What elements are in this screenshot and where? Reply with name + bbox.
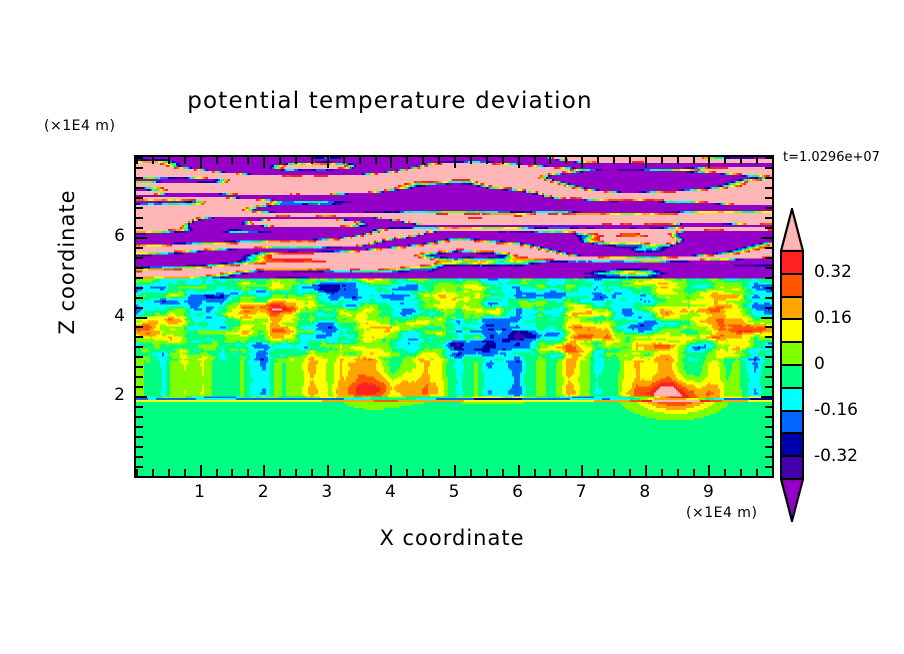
x-tick-label: 9	[695, 482, 721, 502]
axis-tick-mark	[136, 416, 143, 418]
axis-tick-mark	[327, 465, 329, 476]
axis-tick-mark	[597, 157, 599, 164]
axis-tick-mark	[263, 157, 265, 168]
axis-tick-mark	[765, 247, 772, 249]
axis-tick-mark	[693, 469, 695, 476]
colorbar-band	[782, 252, 802, 275]
colorbar-tick-label: 0.16	[814, 308, 852, 328]
axis-tick-mark	[581, 157, 583, 168]
axis-tick-mark	[765, 197, 772, 199]
x-tick-label: 5	[441, 482, 467, 502]
axis-tick-mark	[136, 307, 143, 309]
axis-tick-mark	[765, 217, 772, 219]
axis-tick-mark	[136, 356, 143, 358]
axis-tick-mark	[708, 465, 710, 476]
axis-tick-mark	[375, 157, 377, 164]
colorbar-band	[782, 389, 802, 412]
colorbar-band	[782, 320, 802, 343]
axis-tick-mark	[136, 207, 143, 209]
axis-tick-mark	[629, 157, 631, 164]
axis-tick-mark	[772, 469, 774, 476]
axis-tick-mark	[136, 456, 143, 458]
axis-tick-mark	[502, 469, 504, 476]
axis-tick-mark	[136, 247, 143, 249]
axis-tick-mark	[765, 297, 772, 299]
x-tick-label: 7	[568, 482, 594, 502]
axis-tick-mark	[136, 237, 147, 239]
axis-tick-mark	[136, 167, 143, 169]
axis-tick-mark	[765, 227, 772, 229]
axis-tick-mark	[581, 465, 583, 476]
axis-tick-mark	[136, 257, 143, 259]
x-axis-title: X coordinate	[134, 526, 770, 550]
x-tick-label: 1	[187, 482, 213, 502]
colorbar-band	[782, 434, 802, 457]
axis-tick-mark	[740, 469, 742, 476]
axis-tick-mark	[168, 157, 170, 164]
colorbar-tick-label: -0.32	[814, 446, 858, 466]
axis-tick-mark	[613, 469, 615, 476]
axis-tick-mark	[677, 469, 679, 476]
colorbar-band	[782, 343, 802, 366]
axis-tick-mark	[295, 469, 297, 476]
axis-tick-mark	[438, 157, 440, 164]
axis-tick-mark	[136, 217, 143, 219]
axis-tick-mark	[765, 336, 772, 338]
axis-tick-mark	[231, 469, 233, 476]
axis-tick-mark	[136, 287, 143, 289]
axis-tick-mark	[724, 157, 726, 164]
axis-tick-mark	[200, 157, 202, 168]
y-tick-label: 2	[103, 385, 125, 405]
colorbar-tick-label: -0.16	[814, 400, 858, 420]
axis-tick-mark	[231, 157, 233, 164]
axis-tick-mark	[438, 469, 440, 476]
axis-tick-mark	[216, 157, 218, 164]
axis-tick-mark	[518, 157, 520, 168]
axis-tick-mark	[136, 469, 138, 476]
axis-tick-mark	[136, 366, 143, 368]
axis-tick-mark	[765, 326, 772, 328]
axis-tick-mark	[247, 157, 249, 164]
axis-tick-mark	[549, 157, 551, 164]
axis-tick-mark	[136, 376, 143, 378]
axis-tick-mark	[184, 469, 186, 476]
axis-tick-mark	[740, 157, 742, 164]
axis-tick-mark	[765, 466, 772, 468]
axis-tick-mark	[359, 157, 361, 164]
axis-tick-mark	[486, 157, 488, 164]
axis-tick-mark	[311, 469, 313, 476]
axis-tick-mark	[136, 157, 143, 159]
axis-tick-mark	[645, 465, 647, 476]
axis-tick-mark	[765, 386, 772, 388]
axis-tick-mark	[765, 406, 772, 408]
x-tick-label: 6	[505, 482, 531, 502]
axis-tick-mark	[152, 469, 154, 476]
x-tick-label: 3	[314, 482, 340, 502]
y-tick-label: 6	[103, 226, 125, 246]
x-axis-unit-label: (×1E4 m)	[686, 505, 757, 521]
axis-tick-mark	[470, 157, 472, 164]
axis-tick-mark	[645, 157, 647, 168]
axis-tick-mark	[454, 157, 456, 168]
axis-tick-mark	[677, 157, 679, 164]
axis-tick-mark	[216, 469, 218, 476]
contour-plot-area	[134, 155, 774, 478]
axis-tick-mark	[765, 356, 772, 358]
axis-tick-mark	[708, 157, 710, 168]
axis-tick-mark	[756, 157, 758, 164]
axis-tick-mark	[136, 227, 143, 229]
axis-tick-mark	[765, 187, 772, 189]
axis-tick-mark	[765, 366, 772, 368]
axis-tick-mark	[136, 277, 143, 279]
axis-tick-mark	[136, 177, 143, 179]
axis-tick-mark	[765, 476, 772, 478]
axis-tick-mark	[765, 177, 772, 179]
axis-tick-mark	[765, 167, 772, 169]
axis-tick-mark	[597, 469, 599, 476]
axis-tick-mark	[136, 317, 147, 319]
axis-tick-mark	[765, 346, 772, 348]
axis-tick-mark	[136, 426, 143, 428]
axis-tick-mark	[454, 465, 456, 476]
axis-tick-mark	[184, 157, 186, 164]
axis-tick-mark	[136, 297, 143, 299]
axis-tick-mark	[375, 469, 377, 476]
colorbar-band	[782, 457, 802, 478]
axis-tick-mark	[136, 476, 143, 478]
axis-tick-mark	[295, 157, 297, 164]
axis-tick-mark	[136, 396, 147, 398]
axis-tick-mark	[136, 346, 143, 348]
axis-tick-mark	[343, 157, 345, 164]
axis-tick-mark	[136, 336, 143, 338]
colorbar-over-range-arrow	[780, 208, 804, 252]
axis-tick-mark	[518, 465, 520, 476]
colorbar-tick-label: 0.32	[814, 262, 852, 282]
axis-tick-mark	[422, 469, 424, 476]
z-axis-unit-label: (×1E4 m)	[44, 118, 115, 134]
axis-tick-mark	[765, 257, 772, 259]
axis-tick-mark	[765, 267, 772, 269]
axis-tick-mark	[359, 469, 361, 476]
axis-tick-mark	[136, 406, 143, 408]
axis-tick-mark	[765, 446, 772, 448]
axis-tick-mark	[565, 157, 567, 164]
axis-tick-mark	[136, 187, 143, 189]
axis-tick-mark	[765, 207, 772, 209]
axis-tick-mark	[765, 376, 772, 378]
axis-tick-mark	[152, 157, 154, 164]
axis-tick-mark	[200, 465, 202, 476]
colorbar-band	[782, 412, 802, 435]
y-tick-label: 4	[103, 306, 125, 326]
time-annotation: t=1.0296e+07	[783, 150, 880, 165]
axis-tick-mark	[765, 416, 772, 418]
axis-tick-mark	[486, 469, 488, 476]
axis-tick-mark	[136, 446, 143, 448]
axis-tick-mark	[565, 469, 567, 476]
colorbar-tick-label: 0	[814, 354, 825, 374]
axis-tick-mark	[724, 469, 726, 476]
x-tick-label: 8	[632, 482, 658, 502]
axis-tick-mark	[136, 436, 143, 438]
axis-tick-mark	[136, 386, 143, 388]
axis-tick-mark	[311, 157, 313, 164]
contour-field-canvas	[136, 157, 772, 476]
axis-tick-mark	[765, 307, 772, 309]
axis-tick-mark	[390, 157, 392, 168]
axis-tick-mark	[136, 326, 143, 328]
axis-tick-mark	[534, 157, 536, 164]
axis-tick-mark	[613, 157, 615, 164]
axis-tick-mark	[390, 465, 392, 476]
colorbar: 0.320.160-0.16-0.32	[780, 208, 804, 522]
axis-tick-mark	[765, 436, 772, 438]
axis-tick-mark	[693, 157, 695, 164]
x-tick-label: 2	[250, 482, 276, 502]
colorbar-bands	[780, 250, 804, 480]
axis-tick-mark	[549, 469, 551, 476]
axis-tick-mark	[661, 157, 663, 164]
axis-tick-mark	[279, 469, 281, 476]
axis-tick-mark	[756, 469, 758, 476]
axis-tick-mark	[406, 469, 408, 476]
axis-tick-mark	[279, 157, 281, 164]
axis-tick-mark	[761, 396, 772, 398]
colorbar-band	[782, 298, 802, 321]
axis-tick-mark	[761, 317, 772, 319]
axis-tick-mark	[263, 465, 265, 476]
colorbar-band	[782, 275, 802, 298]
axis-tick-mark	[765, 426, 772, 428]
axis-tick-mark	[247, 469, 249, 476]
axis-tick-mark	[534, 469, 536, 476]
y-axis-title: Z coordinate	[55, 172, 79, 352]
axis-tick-mark	[765, 277, 772, 279]
axis-tick-mark	[765, 157, 772, 159]
axis-tick-mark	[168, 469, 170, 476]
axis-tick-mark	[136, 267, 143, 269]
colorbar-under-range-arrow	[780, 478, 804, 522]
axis-tick-mark	[327, 157, 329, 168]
axis-tick-mark	[422, 157, 424, 164]
axis-tick-mark	[761, 237, 772, 239]
page-title: potential temperature deviation	[0, 88, 780, 114]
axis-tick-mark	[502, 157, 504, 164]
axis-tick-mark	[136, 466, 143, 468]
x-tick-label: 4	[377, 482, 403, 502]
axis-tick-mark	[629, 469, 631, 476]
axis-tick-mark	[136, 197, 143, 199]
axis-tick-mark	[765, 287, 772, 289]
axis-tick-mark	[470, 469, 472, 476]
axis-tick-mark	[406, 157, 408, 164]
colorbar-band	[782, 366, 802, 389]
axis-tick-mark	[765, 456, 772, 458]
axis-tick-mark	[661, 469, 663, 476]
axis-tick-mark	[343, 469, 345, 476]
axis-tick-mark	[772, 157, 774, 164]
